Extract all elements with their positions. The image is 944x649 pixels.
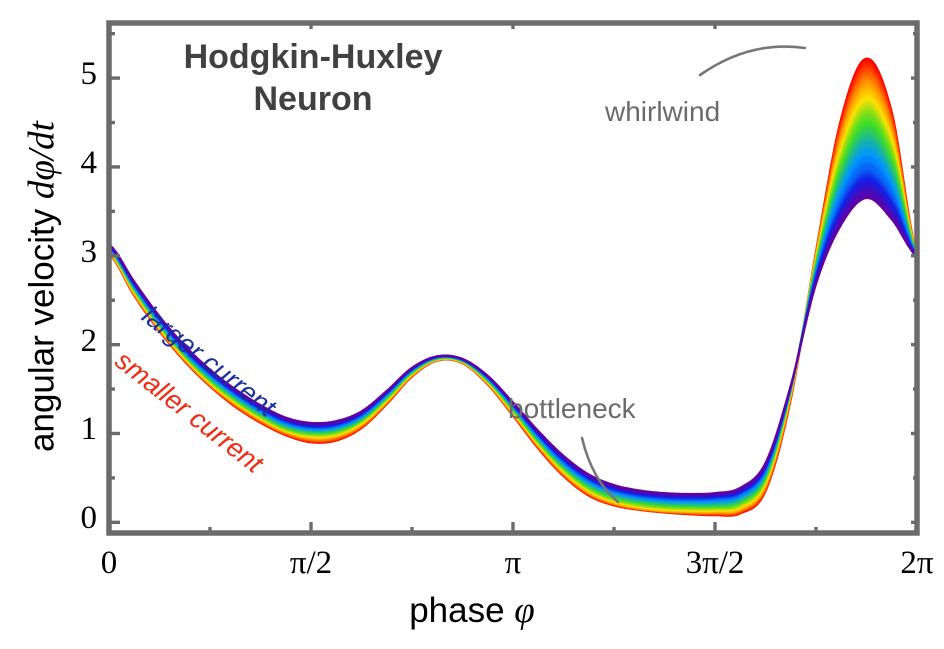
x-tick-label: 3π/2 xyxy=(655,545,775,582)
annotation-bottleneck: bottleneck xyxy=(508,393,636,425)
y-axis-title-text: angular velocity xyxy=(23,199,62,452)
x-axis-title-symbol: φ xyxy=(514,590,534,631)
x-tick-label: π/2 xyxy=(251,545,371,582)
x-tick-label: 2π xyxy=(857,545,944,582)
page-title: Hodgkin-Huxley Neuron xyxy=(148,36,478,120)
x-tick-label: 0 xyxy=(49,545,169,582)
y-axis-title-symbol: dφ/dt xyxy=(22,121,63,199)
x-axis-title-text: phase xyxy=(409,591,514,630)
chart-figure: Hodgkin-Huxley Neuron 012345 0π/2π3π/22π… xyxy=(0,0,944,649)
y-axis-title: angular velocity dφ/dt xyxy=(21,27,64,547)
annotation-whirlwind: whirlwind xyxy=(605,96,720,128)
x-axis-title: phase φ xyxy=(0,589,944,632)
whirlwind-leader-line xyxy=(700,47,805,75)
x-tick-label: π xyxy=(453,545,573,582)
title-line-1: Hodgkin-Huxley xyxy=(148,36,478,78)
title-line-2: Neuron xyxy=(148,78,478,120)
